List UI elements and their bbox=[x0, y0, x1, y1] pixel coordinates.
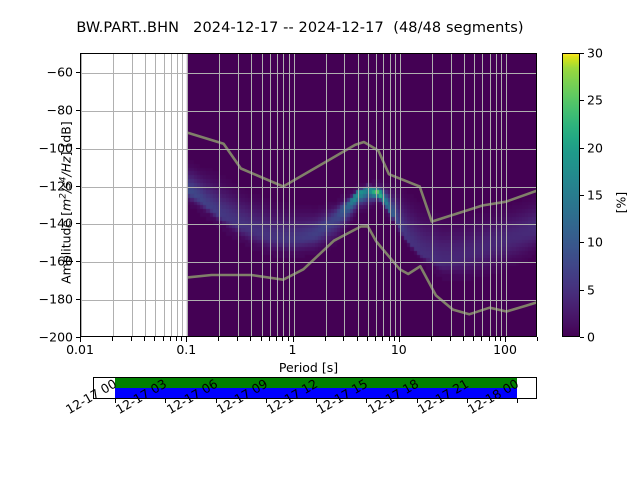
gridline-vertical bbox=[283, 54, 284, 336]
gridline-vertical bbox=[251, 54, 252, 336]
colorbar-tick bbox=[580, 290, 584, 291]
x-axis-tick bbox=[154, 337, 155, 341]
x-axis-tick bbox=[505, 337, 506, 342]
x-axis-tick bbox=[450, 337, 451, 341]
ppsd-figure: BW.PART..BHN 2024-12-17 -- 2024-12-17 (4… bbox=[0, 0, 640, 480]
timeline-tick bbox=[517, 399, 518, 403]
x-axis-tick-label: 0.1 bbox=[176, 342, 196, 357]
gridline-horizontal bbox=[81, 187, 536, 188]
x-axis-tick bbox=[186, 337, 187, 342]
x-axis-tick bbox=[218, 337, 219, 341]
gridline-vertical bbox=[145, 54, 146, 336]
x-axis-tick bbox=[325, 337, 326, 341]
x-axis-tick bbox=[112, 337, 113, 341]
colorbar-label: [%] bbox=[614, 143, 629, 263]
x-axis-tick bbox=[382, 337, 383, 341]
colorbar-tick bbox=[580, 337, 584, 338]
gridline-vertical bbox=[464, 54, 465, 336]
x-axis-tick bbox=[473, 337, 474, 341]
colorbar[interactable] bbox=[562, 53, 580, 337]
x-axis-tick bbox=[144, 337, 145, 341]
gridline-vertical bbox=[171, 54, 172, 336]
y-axis-tick bbox=[76, 186, 80, 187]
gridline-horizontal bbox=[81, 224, 536, 225]
x-axis-tick-label: 100 bbox=[493, 342, 517, 357]
gridline-horizontal bbox=[81, 262, 536, 263]
y-axis-label-prefix: Amplitude [ bbox=[59, 211, 74, 284]
gridline-vertical bbox=[376, 54, 377, 336]
y-axis-tick bbox=[76, 223, 80, 224]
x-axis-tick bbox=[357, 337, 358, 341]
gridline-vertical bbox=[383, 54, 384, 336]
y-axis-label-suffix: ] [dB] bbox=[59, 121, 74, 156]
x-axis-tick bbox=[288, 337, 289, 341]
nhnm-curve bbox=[187, 133, 536, 222]
gridline-vertical bbox=[164, 54, 165, 336]
gridline-vertical bbox=[390, 54, 391, 336]
colorbar-tick bbox=[580, 53, 584, 54]
x-axis-tick bbox=[394, 337, 395, 341]
gridline-vertical bbox=[358, 54, 359, 336]
gridline-vertical bbox=[482, 54, 483, 336]
x-axis-tick bbox=[431, 337, 432, 341]
y-axis-label-m: m bbox=[59, 199, 74, 211]
gridline-vertical bbox=[81, 54, 82, 336]
gridline-vertical bbox=[506, 54, 507, 336]
nlnm-curve bbox=[187, 226, 536, 314]
figure-title: BW.PART..BHN 2024-12-17 -- 2024-12-17 (4… bbox=[0, 20, 600, 36]
gridline-vertical bbox=[474, 54, 475, 336]
gridline-vertical bbox=[326, 54, 327, 336]
y-axis-tick bbox=[76, 72, 80, 73]
colorbar-tick bbox=[580, 242, 584, 243]
x-axis-tick bbox=[131, 337, 132, 341]
gridline-horizontal bbox=[81, 111, 536, 112]
x-axis-tick bbox=[375, 337, 376, 341]
gridline-vertical bbox=[270, 54, 271, 336]
gridline-horizontal bbox=[81, 73, 536, 74]
x-axis-tick bbox=[343, 337, 344, 341]
gridline-horizontal bbox=[81, 300, 536, 301]
ppsd-canvas-clip bbox=[81, 54, 536, 336]
x-axis-tick bbox=[276, 337, 277, 341]
colorbar-tick bbox=[580, 195, 584, 196]
gridline-vertical bbox=[262, 54, 263, 336]
gridline-vertical bbox=[182, 54, 183, 336]
gridline-vertical bbox=[501, 54, 502, 336]
y-axis-tick bbox=[76, 110, 80, 111]
x-axis-tick bbox=[181, 337, 182, 341]
gridline-vertical bbox=[294, 54, 295, 336]
y-axis-tick bbox=[76, 261, 80, 262]
x-axis-tick-label: 10 bbox=[391, 342, 407, 357]
x-axis-tick bbox=[250, 337, 251, 341]
colorbar-tick-label: 0 bbox=[587, 330, 595, 345]
gridline-vertical bbox=[277, 54, 278, 336]
colorbar-tick-label: 20 bbox=[587, 140, 603, 155]
y-axis-label-per-hz: /Hz bbox=[59, 156, 74, 176]
x-axis-tick bbox=[495, 337, 496, 341]
y-axis-tick bbox=[76, 337, 80, 338]
colorbar-tick bbox=[580, 148, 584, 149]
ppsd-plot-area[interactable] bbox=[80, 53, 537, 337]
gridline-vertical bbox=[344, 54, 345, 336]
gridline-vertical bbox=[155, 54, 156, 336]
x-axis-tick bbox=[80, 337, 81, 342]
y-axis-label-exp2: 2 bbox=[58, 193, 68, 199]
y-axis-label-per-s: /s bbox=[59, 182, 74, 193]
x-axis-tick bbox=[367, 337, 368, 341]
gridline-vertical bbox=[238, 54, 239, 336]
colorbar-tick-label: 5 bbox=[587, 282, 595, 297]
gridline-horizontal bbox=[81, 149, 536, 150]
y-axis-label-exp4: 4 bbox=[58, 177, 68, 183]
x-axis-tick bbox=[399, 337, 400, 342]
x-axis-tick bbox=[163, 337, 164, 341]
gridline-vertical bbox=[400, 54, 401, 336]
gridline-vertical bbox=[219, 54, 220, 336]
x-axis-tick bbox=[269, 337, 270, 341]
colorbar-tick-label: 10 bbox=[587, 235, 603, 250]
x-axis-tick bbox=[282, 337, 283, 341]
x-axis-tick bbox=[176, 337, 177, 341]
x-axis-tick bbox=[481, 337, 482, 341]
gridline-vertical bbox=[113, 54, 114, 336]
gridline-vertical bbox=[496, 54, 497, 336]
colorbar-tick bbox=[580, 100, 584, 101]
x-axis-tick bbox=[389, 337, 390, 341]
x-axis-tick bbox=[170, 337, 171, 341]
gridline-vertical bbox=[490, 54, 491, 336]
x-axis-tick bbox=[500, 337, 501, 341]
x-axis-tick bbox=[293, 337, 294, 342]
colorbar-tick-label: 25 bbox=[587, 93, 603, 108]
x-axis-tick bbox=[261, 337, 262, 341]
x-axis-tick bbox=[463, 337, 464, 341]
colorbar-tick-label: 30 bbox=[587, 46, 603, 61]
x-axis-label: Period [s] bbox=[80, 360, 537, 375]
gridline-vertical bbox=[368, 54, 369, 336]
x-axis-tick bbox=[537, 337, 538, 341]
x-axis-tick bbox=[237, 337, 238, 341]
x-axis-tick-label: 1 bbox=[289, 342, 297, 357]
gridline-vertical bbox=[432, 54, 433, 336]
gridline-vertical bbox=[177, 54, 178, 336]
y-axis-tick bbox=[76, 299, 80, 300]
y-axis-tick bbox=[76, 148, 80, 149]
gridline-vertical bbox=[395, 54, 396, 336]
gridline-vertical bbox=[451, 54, 452, 336]
gridline-vertical bbox=[187, 54, 188, 336]
colorbar-tick-label: 15 bbox=[587, 188, 603, 203]
noise-model-overlay bbox=[81, 54, 536, 336]
y-axis-label: Amplitude [m2/s4/Hz] [dB] bbox=[58, 58, 73, 348]
x-axis-tick bbox=[489, 337, 490, 341]
gridline-vertical bbox=[289, 54, 290, 336]
gridline-vertical bbox=[132, 54, 133, 336]
